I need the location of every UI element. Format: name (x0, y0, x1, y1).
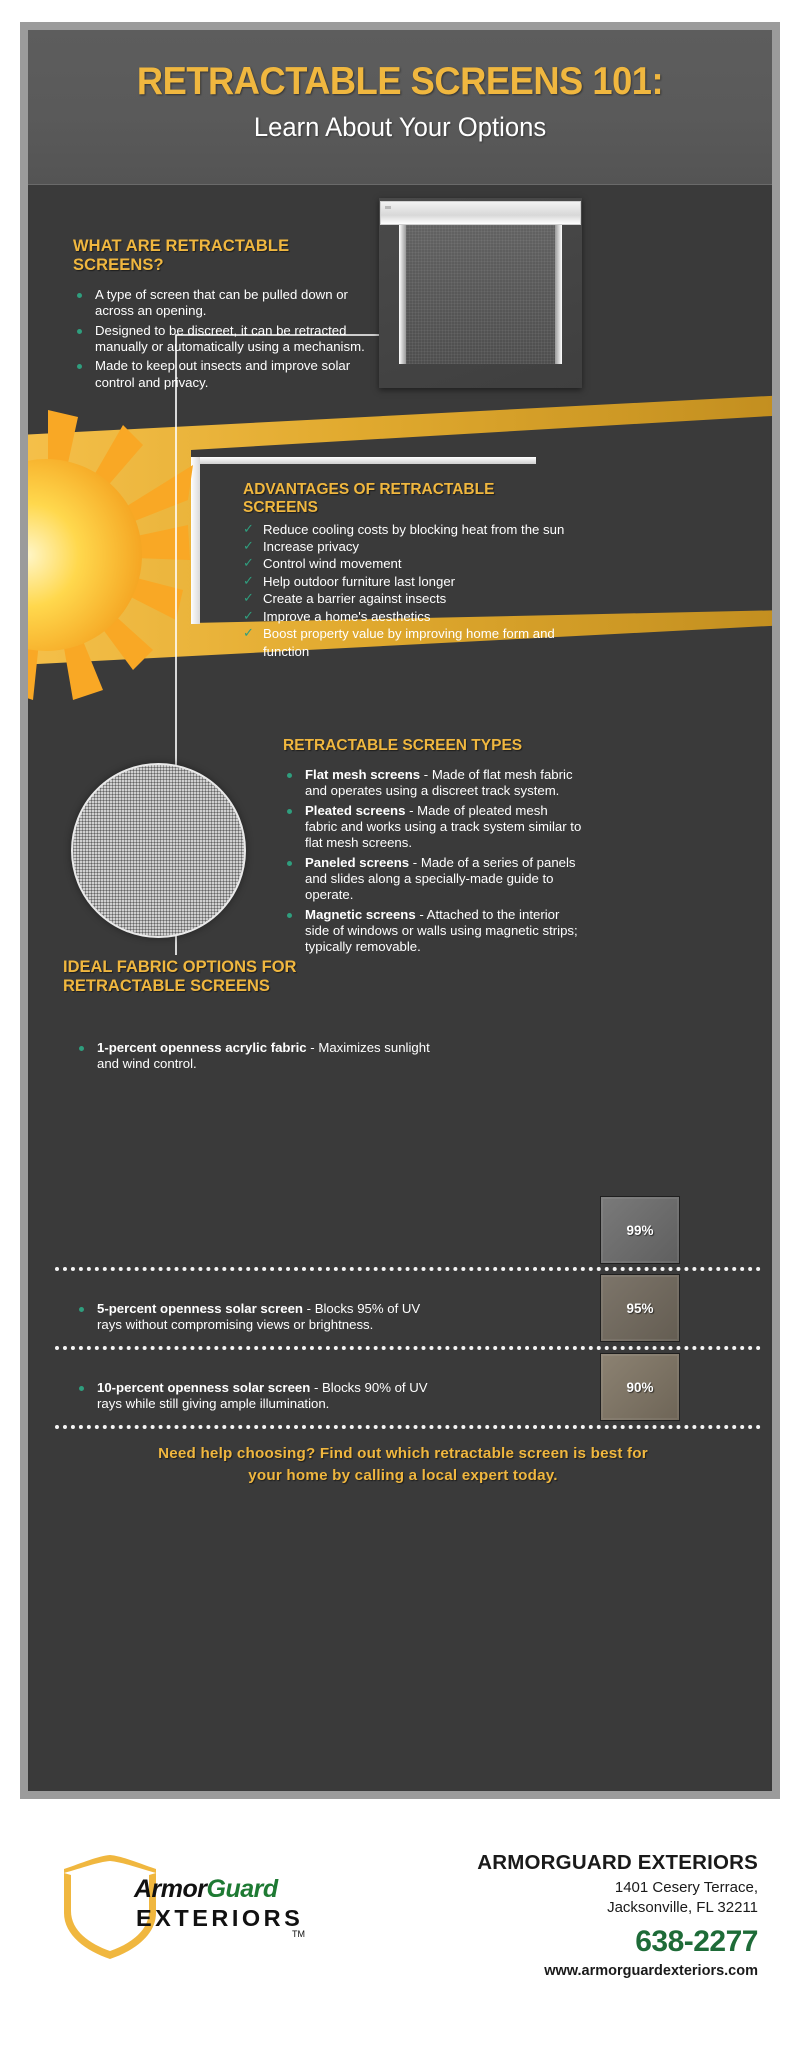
list-item: 5-percent openness solar screen - Blocks… (75, 1301, 435, 1334)
logo-guard-text: Guard (207, 1875, 278, 1903)
company-website[interactable]: www.armorguardexteriors.com (477, 1963, 758, 1979)
type-name: Magnetic screens (305, 907, 416, 922)
fabric-name: 1-percent openness acrylic fabric (97, 1040, 307, 1055)
section-fabrics-heading: IDEAL FABRIC OPTIONS FOR RETRACTABLE SCR… (63, 958, 503, 996)
sun-illustration (28, 405, 198, 705)
fabric-swatch-1: 99% (600, 1196, 680, 1264)
screen-mesh (406, 225, 555, 364)
fabric-swatch-2: 95% (600, 1274, 680, 1342)
swatch-label: 95% (626, 1301, 653, 1316)
swatch-label: 99% (626, 1223, 653, 1238)
screen-track-left (399, 225, 406, 364)
section-types-list: Flat mesh screens - Made of flat mesh fa… (283, 767, 583, 956)
list-item: 10-percent openness solar screen - Block… (75, 1380, 435, 1413)
company-phone[interactable]: 638-2277 (477, 1925, 758, 1959)
company-contact-block: ARMORGUARD EXTERIORS 1401 Cesery Terrace… (477, 1851, 758, 1979)
logo-exteriors-text: EXTERIORS (136, 1905, 303, 1932)
fabric-swatch-3: 90% (600, 1353, 680, 1421)
company-name: ARMORGUARD EXTERIORS (477, 1851, 758, 1875)
section-what-list: A type of screen that can be pulled down… (73, 287, 373, 391)
logo-armor-text: Armor (134, 1875, 207, 1903)
logo-wordmark-top: ArmorGuard (134, 1875, 278, 1904)
list-item: Flat mesh screens - Made of flat mesh fa… (283, 767, 583, 800)
screen-valance (380, 201, 581, 225)
list-item: Designed to be discreet, it can be retra… (73, 323, 373, 356)
section-advantages-list: Reduce cooling costs by blocking heat fr… (243, 521, 573, 660)
divider-2 (55, 1346, 761, 1350)
list-item: A type of screen that can be pulled down… (73, 287, 373, 320)
section-screen-types: RETRACTABLE SCREEN TYPES Flat mesh scree… (283, 737, 583, 959)
list-item: Increase privacy (243, 538, 573, 555)
list-item: Improve a home's aesthetics (243, 608, 573, 625)
company-logo[interactable]: ArmorGuard EXTERIORS TM (52, 1853, 302, 1963)
logo-trademark: TM (292, 1929, 305, 1939)
poster-frame: RETRACTABLE SCREENS 101: Learn About You… (20, 22, 780, 1799)
swatch-label: 90% (626, 1380, 653, 1395)
mesh-fabric-circle-image (71, 763, 246, 938)
list-item: 1-percent openness acrylic fabric - Maxi… (75, 1040, 435, 1073)
call-to-action: Need help choosing? Find out which retra… (73, 1443, 733, 1487)
poster-inner: RETRACTABLE SCREENS 101: Learn About You… (28, 30, 772, 1791)
page-title: RETRACTABLE SCREENS 101: (54, 60, 746, 104)
cta-line-1: Need help choosing? Find out which retra… (73, 1443, 733, 1465)
list-item: Pleated screens - Made of pleated mesh f… (283, 803, 583, 852)
company-address: 1401 Cesery Terrace, Jacksonville, FL 32… (477, 1878, 758, 1917)
address-line-1: 1401 Cesery Terrace, (477, 1878, 758, 1898)
list-item: Control wind movement (243, 555, 573, 572)
advantages-panel-top-edge (191, 457, 536, 464)
section-fabrics-heading-line1: IDEAL FABRIC OPTIONS FOR (63, 958, 503, 977)
list-item: Boost property value by improving home f… (243, 625, 573, 660)
section-what-heading: WHAT ARE RETRACTABLE SCREENS? (73, 237, 373, 275)
list-item: Magnetic screens - Attached to the inter… (283, 907, 583, 956)
body-area: WHAT ARE RETRACTABLE SCREENS? A type of … (28, 185, 772, 1791)
section-what-are-retractable-screens: WHAT ARE RETRACTABLE SCREENS? A type of … (73, 237, 373, 394)
fabric-name: 5-percent openness solar screen (97, 1301, 303, 1316)
section-advantages-heading: ADVANTAGES OF RETRACTABLE SCREENS (243, 481, 573, 517)
header: RETRACTABLE SCREENS 101: Learn About You… (28, 30, 772, 185)
screen-track-right (555, 225, 562, 364)
retractable-screen-image (379, 198, 582, 388)
infographic-page: RETRACTABLE SCREENS 101: Learn About You… (0, 0, 800, 2065)
section-advantages: ADVANTAGES OF RETRACTABLE SCREENS Reduce… (243, 481, 573, 660)
type-name: Flat mesh screens (305, 767, 420, 782)
list-item: Made to keep out insects and improve sol… (73, 358, 373, 391)
footer: ArmorGuard EXTERIORS TM ARMORGUARD EXTER… (0, 1815, 800, 2065)
divider-1 (55, 1267, 761, 1271)
fabric-name: 10-percent openness solar screen (97, 1380, 310, 1395)
fabric-row-1: 1-percent openness acrylic fabric - Maxi… (75, 1040, 435, 1076)
type-name: Paneled screens (305, 855, 409, 870)
section-fabrics-heading-line2: RETRACTABLE SCREENS (63, 977, 503, 996)
section-fabric-options: IDEAL FABRIC OPTIONS FOR RETRACTABLE SCR… (63, 958, 503, 996)
page-subtitle: Learn About Your Options (47, 112, 754, 143)
divider-3 (55, 1425, 761, 1429)
list-item: Paneled screens - Made of a series of pa… (283, 855, 583, 904)
list-item: Help outdoor furniture last longer (243, 573, 573, 590)
cta-line-2: your home by calling a local expert toda… (73, 1465, 733, 1487)
section-types-heading: RETRACTABLE SCREEN TYPES (283, 737, 583, 755)
type-name: Pleated screens (305, 803, 405, 818)
list-item: Reduce cooling costs by blocking heat fr… (243, 521, 573, 538)
fabric-row-2: 5-percent openness solar screen - Blocks… (75, 1301, 435, 1337)
address-line-2: Jacksonville, FL 32211 (477, 1898, 758, 1918)
list-item: Create a barrier against insects (243, 590, 573, 607)
fabric-row-3: 10-percent openness solar screen - Block… (75, 1380, 435, 1416)
